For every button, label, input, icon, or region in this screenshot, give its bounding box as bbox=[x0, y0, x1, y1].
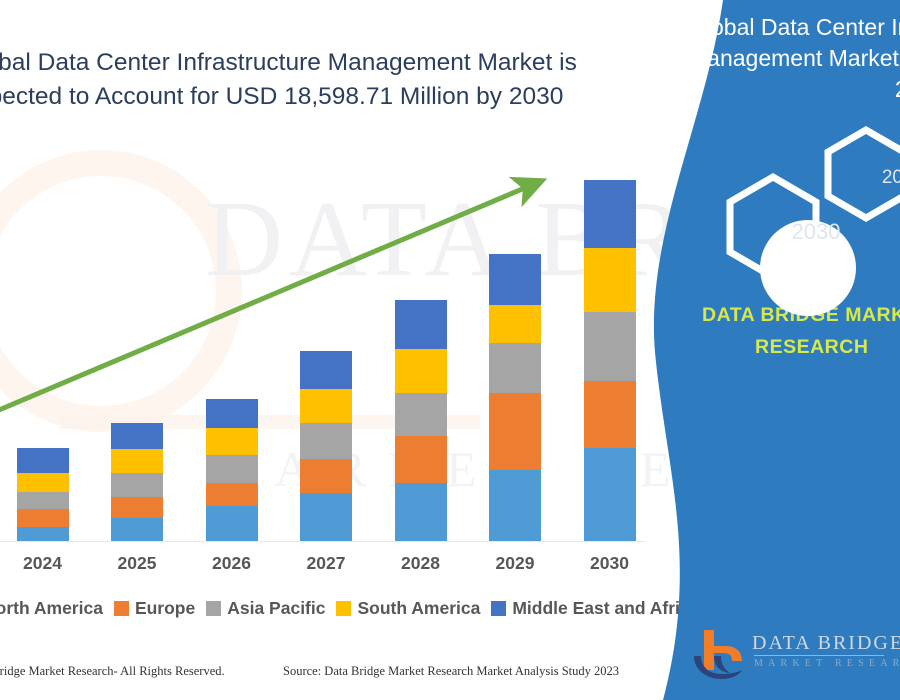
x-axis-label-2026: 2026 bbox=[206, 553, 258, 574]
legend-item-south-america[interactable]: South America bbox=[336, 598, 480, 619]
bar-segment-2030-middle-east-and-africa bbox=[584, 180, 636, 248]
bar-segment-2027-north-america bbox=[300, 493, 352, 541]
x-axis-label-2027: 2027 bbox=[300, 553, 352, 574]
bar-segment-2025-south-america bbox=[111, 449, 163, 473]
bar-segment-2026-south-america bbox=[206, 428, 258, 455]
bar-segment-2026-north-america bbox=[206, 506, 258, 541]
hexagon-2030-label-wrap: 2030 bbox=[773, 215, 859, 249]
bar-2030 bbox=[584, 180, 636, 541]
legend-item-north-america[interactable]: North America bbox=[0, 598, 103, 619]
bar-segment-2030-asia-pacific bbox=[584, 312, 636, 380]
bar-segment-2029-europe bbox=[489, 393, 541, 470]
legend-swatch-icon bbox=[336, 601, 351, 616]
footer-source: Source: Data Bridge Market Research Mark… bbox=[283, 664, 619, 679]
bar-segment-2026-asia-pacific bbox=[206, 455, 258, 483]
logo[interactable]: DATA BRIDGE MARKET RESEARCH bbox=[692, 626, 900, 688]
legend-label: North America bbox=[0, 598, 103, 619]
bar-segment-2029-north-america bbox=[489, 470, 541, 541]
bar-segment-2028-asia-pacific bbox=[395, 393, 447, 437]
hexagon-2022-label-wrap: 2022 bbox=[868, 163, 900, 193]
bar-2028 bbox=[395, 300, 447, 541]
bar-2024 bbox=[17, 448, 69, 541]
bar-segment-2024-europe bbox=[17, 509, 69, 528]
x-axis-label-2029: 2029 bbox=[489, 553, 541, 574]
bar-segment-2025-north-america bbox=[111, 518, 163, 541]
hexagon-2030-label: 2030 bbox=[792, 219, 841, 245]
bar-segment-2030-north-america bbox=[584, 448, 636, 541]
logo-subtitle: MARKET RESEARCH bbox=[754, 658, 900, 669]
bar-segment-2027-middle-east-and-africa bbox=[300, 351, 352, 389]
hexagon-group bbox=[660, 100, 900, 430]
legend-label: South America bbox=[357, 598, 480, 619]
legend-label: Europe bbox=[135, 598, 195, 619]
bar-segment-2028-south-america bbox=[395, 349, 447, 393]
bar-2026 bbox=[206, 399, 258, 541]
page-title-line-2: Expected to Account for USD 18,598.71 Mi… bbox=[0, 80, 580, 114]
bar-segment-2024-middle-east-and-africa bbox=[17, 448, 69, 473]
bar-2027 bbox=[300, 351, 352, 541]
bar-segment-2029-asia-pacific bbox=[489, 343, 541, 393]
bar-segment-2024-south-america bbox=[17, 473, 69, 492]
bar-segment-2028-middle-east-and-africa bbox=[395, 300, 447, 349]
x-axis-label-2028: 2028 bbox=[395, 553, 447, 574]
legend-swatch-icon bbox=[114, 601, 129, 616]
logo-divider bbox=[754, 655, 884, 656]
logo-mark-icon bbox=[692, 626, 750, 684]
page-title-line-1: Global Data Center Infrastructure Manage… bbox=[0, 46, 580, 80]
hexagon-2022-label: 2022 bbox=[882, 167, 900, 189]
x-axis-label-2024: 2024 bbox=[17, 553, 69, 574]
x-axis-label-2030: 2030 bbox=[584, 553, 636, 574]
chart-baseline bbox=[0, 541, 645, 542]
legend-item-asia-pacific[interactable]: Asia Pacific bbox=[206, 598, 325, 619]
bar-segment-2030-south-america bbox=[584, 248, 636, 313]
page-title: Global Data Center Infrastructure Manage… bbox=[0, 46, 580, 114]
bar-segment-2024-north-america bbox=[17, 527, 69, 541]
bar-2025 bbox=[111, 423, 163, 541]
bar-segment-2029-middle-east-and-africa bbox=[489, 254, 541, 305]
bar-segment-2030-europe bbox=[584, 381, 636, 449]
panel-title: Global Data Center Infrastructure Manage… bbox=[688, 12, 900, 105]
panel-title-line-2: Management Market Size, 2022 & bbox=[688, 43, 900, 74]
bar-2029 bbox=[489, 254, 541, 541]
bar-segment-2025-europe bbox=[111, 497, 163, 518]
bar-segment-2027-asia-pacific bbox=[300, 423, 352, 458]
bar-segment-2027-europe bbox=[300, 459, 352, 493]
legend-item-europe[interactable]: Europe bbox=[114, 598, 195, 619]
legend-label: Asia Pacific bbox=[227, 598, 325, 619]
right-panel: Global Data Center Infrastructure Manage… bbox=[660, 0, 900, 700]
footer-copyright: © Data Bridge Market Research- All Right… bbox=[0, 664, 225, 679]
bar-segment-2025-middle-east-and-africa bbox=[111, 423, 163, 450]
bar-segment-2028-north-america bbox=[395, 483, 447, 541]
panel-title-line-1: Global Data Center Infrastructure bbox=[688, 12, 900, 43]
x-axis-label-2025: 2025 bbox=[111, 553, 163, 574]
bar-segment-2027-south-america bbox=[300, 389, 352, 423]
bar-segment-2026-europe bbox=[206, 483, 258, 506]
logo-name: DATA BRIDGE bbox=[752, 632, 900, 655]
bar-segment-2025-asia-pacific bbox=[111, 473, 163, 496]
bar-segment-2028-europe bbox=[395, 436, 447, 482]
legend-swatch-icon bbox=[491, 601, 506, 616]
chart-legend: North AmericaEuropeAsia PacificSouth Ame… bbox=[0, 598, 662, 619]
bar-segment-2026-middle-east-and-africa bbox=[206, 399, 258, 428]
infographic-canvas: DATA BRIDGE MARKET RESEARCH Global Data … bbox=[0, 0, 900, 700]
bar-segment-2024-asia-pacific bbox=[17, 492, 69, 509]
legend-swatch-icon bbox=[206, 601, 221, 616]
bar-segment-2029-south-america bbox=[489, 305, 541, 343]
footer: © Data Bridge Market Research- All Right… bbox=[0, 655, 660, 700]
